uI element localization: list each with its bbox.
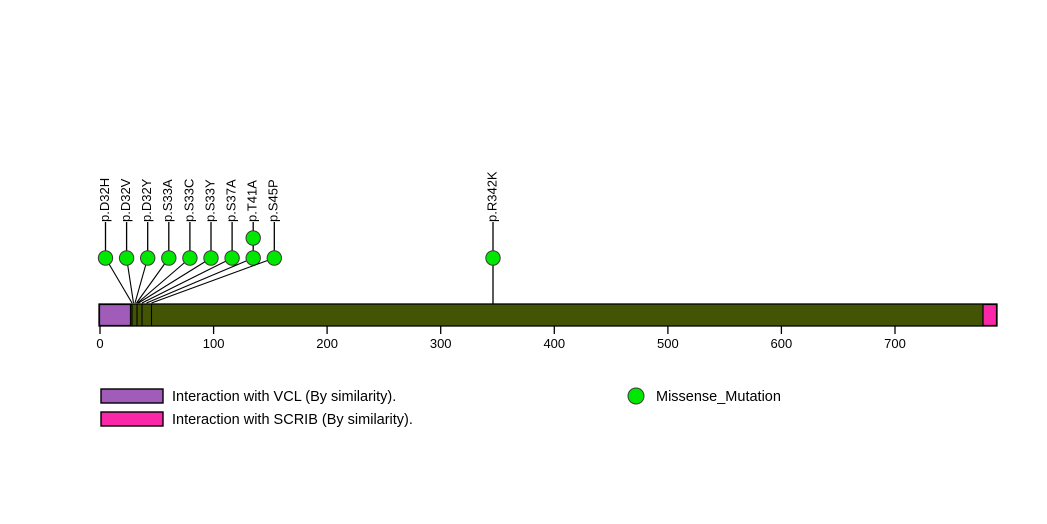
protein-lollipop-chart: p.D32H p.D32V p.D32Y p.S33A	[0, 0, 1047, 524]
legend-label-missense-mutation: Missense_Mutation	[656, 389, 781, 405]
lollipop-head[interactable]	[267, 251, 281, 265]
mutation-label: p.S33A	[160, 179, 175, 222]
axis-tick-100: 100	[203, 326, 225, 351]
axis-tick-label: 100	[203, 336, 225, 351]
mutation-label: p.D32V	[118, 178, 133, 222]
lollipop-p-R342K[interactable]: p.R342K	[484, 171, 500, 320]
axis-tick-0: 0	[96, 326, 103, 351]
lollipop-head[interactable]	[486, 251, 500, 265]
lollipop-group: p.D32H p.D32V p.D32Y p.S33A	[97, 171, 500, 320]
axis-tick-400: 400	[543, 326, 565, 351]
axis-tick-label: 0	[96, 336, 103, 351]
legend-swatch-missense-mutation	[628, 388, 644, 404]
lollipop-head[interactable]	[246, 251, 260, 265]
axis-tick-label: 200	[316, 336, 338, 351]
lollipop-head-stacked[interactable]	[246, 231, 260, 245]
legend-swatch-scrib	[101, 412, 163, 426]
legend-label-vcl: Interaction with VCL (By similarity).	[172, 389, 396, 405]
lollipop-head[interactable]	[162, 251, 176, 265]
axis-tick-700: 700	[884, 326, 906, 351]
mutation-label: p.S33Y	[202, 179, 217, 222]
lollipop-head[interactable]	[225, 251, 239, 265]
lollipop-head[interactable]	[141, 251, 155, 265]
axis-tick-200: 200	[316, 326, 338, 351]
lollipop-plot-canvas: p.D32H p.D32V p.D32Y p.S33A	[0, 0, 1047, 524]
legend-swatch-vcl	[101, 389, 163, 403]
mutation-label: p.T41A	[245, 180, 260, 222]
x-axis: 0 100 200 300 400 500	[96, 326, 905, 351]
domain-interaction-with-scrib[interactable]	[983, 305, 997, 326]
domain-interaction-with-vcl[interactable]	[100, 305, 131, 326]
legend: Interaction with VCL (By similarity). In…	[101, 388, 781, 428]
lollipop-head[interactable]	[204, 251, 218, 265]
protein-backbone-group	[99, 304, 997, 326]
legend-entry-missense-mutation[interactable]: Missense_Mutation	[628, 388, 781, 405]
axis-tick-label: 300	[430, 336, 452, 351]
legend-entry-scrib[interactable]: Interaction with SCRIB (By similarity).	[101, 412, 413, 428]
axis-tick-label: 400	[543, 336, 565, 351]
mutation-label: p.S33C	[181, 179, 196, 222]
lollipop-p-D32Y[interactable]: p.D32Y	[135, 178, 155, 303]
lollipop-head[interactable]	[98, 251, 112, 265]
legend-label-scrib: Interaction with SCRIB (By similarity).	[172, 412, 413, 428]
axis-tick-label: 600	[771, 336, 793, 351]
mutation-label: p.S45P	[266, 179, 281, 222]
mutation-label: p.D32H	[97, 178, 112, 222]
axis-tick-label: 700	[884, 336, 906, 351]
axis-tick-500: 500	[657, 326, 679, 351]
lollipop-head[interactable]	[119, 251, 133, 265]
mutation-label: p.S37A	[224, 179, 239, 222]
axis-tick-300: 300	[430, 326, 452, 351]
axis-tick-label: 500	[657, 336, 679, 351]
legend-entry-vcl[interactable]: Interaction with VCL (By similarity).	[101, 389, 396, 405]
axis-tick-600: 600	[771, 326, 793, 351]
mutation-label: p.R342K	[484, 171, 499, 222]
mutation-label: p.D32Y	[139, 178, 154, 222]
lollipop-head[interactable]	[183, 251, 197, 265]
protein-backbone[interactable]	[99, 304, 997, 326]
